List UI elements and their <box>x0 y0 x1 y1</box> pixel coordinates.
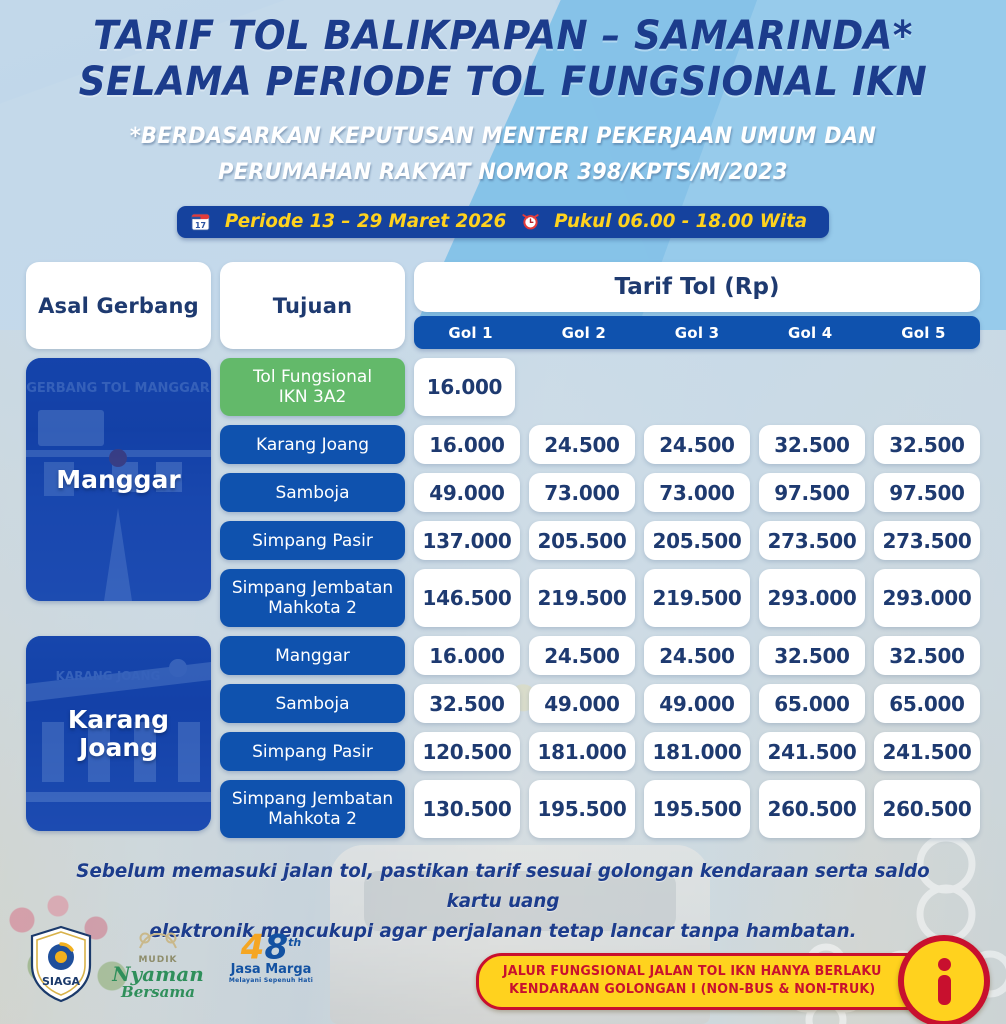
tariff-table-header: Asal Gerbang Tujuan Tarif Tol (Rp) Gol 1… <box>26 262 980 349</box>
table-row: Karang Joang 16.000 24.500 24.500 32.500… <box>220 425 980 464</box>
tariff-cell-gol2: 205.500 <box>529 521 635 560</box>
info-notice-pill: JALUR FUNGSIONAL JALAN TOL IKN HANYA BER… <box>476 953 944 1010</box>
tariff-cell-gol3: 181.000 <box>644 732 750 771</box>
tariff-cell-gol2: 49.000 <box>529 684 635 723</box>
destination-line1: Simpang Jembatan <box>232 578 393 598</box>
tariff-table-body: GERBANG TOL MANGGAR Manggar Tol Fungsion… <box>26 358 980 847</box>
jasa-marga-logo: 4488th Jasa Marga Melayani Sepenuh Hati <box>222 927 320 1001</box>
tariff-cell-gol2: 73.000 <box>529 473 635 512</box>
destination-cell: Tol Fungsional IKN 3A2 <box>220 358 405 416</box>
gol-header-5: Gol 5 <box>867 324 980 342</box>
page-title-line1: TARIF TOL BALIKPAPAN – SAMARINDA* <box>35 14 971 58</box>
tariff-cell-gol2: 24.500 <box>529 425 635 464</box>
jasa-marga-anniversary: 4488th <box>222 927 320 963</box>
siaga-logo: SIAGA <box>28 925 94 1003</box>
tariff-cell-gol1: 32.500 <box>414 684 520 723</box>
tariff-cell-gol5: 32.500 <box>874 425 980 464</box>
period-badge: 17 Periode 13 – 29 Maret 2026 Pukul 06.0… <box>177 206 829 238</box>
tariff-group-manggar: GERBANG TOL MANGGAR Manggar Tol Fungsion… <box>26 358 980 627</box>
time-text: Pukul 06.00 - 18.00 Wita <box>555 212 808 231</box>
destination-cell: Manggar <box>220 636 405 675</box>
footer-logos: SIAGA MUDIK Nyaman Bersama 4488th Jasa M… <box>28 925 320 1003</box>
tariff-cell-empty <box>524 358 980 416</box>
period-text: Periode 13 – 29 Maret 2026 <box>225 212 506 231</box>
tariff-cell-gol5: 32.500 <box>874 636 980 675</box>
tariff-cell-gol3: 195.500 <box>644 780 750 838</box>
gol-header-row: Gol 1 Gol 2 Gol 3 Gol 4 Gol 5 <box>414 316 980 349</box>
column-header-origin: Asal Gerbang <box>26 262 211 349</box>
infographic-poster: TARIF TOL BALIKPAPAN – SAMARINDA* SELAMA… <box>0 0 1006 1024</box>
tariff-cell-gol2: 219.500 <box>529 569 635 627</box>
tariff-cell-gol1: 137.000 <box>414 521 520 560</box>
gol-header-1: Gol 1 <box>414 324 527 342</box>
tariff-cell-gol1: 130.500 <box>414 780 520 838</box>
info-icon-bar <box>938 975 951 1005</box>
tariff-cell-gol1: 146.500 <box>414 569 520 627</box>
destination-line2: Mahkota 2 <box>268 598 357 618</box>
tariff-group-karang-joang: KARANG JOANG Karang Joang Manggar 16.000… <box>26 636 980 838</box>
page-subtitle-line2: PERUMAHAN RAKYAT NOMOR 398/KPTS/M/2023 <box>25 156 981 190</box>
tariff-cell-gol1: 49.000 <box>414 473 520 512</box>
jm-sup: th <box>288 936 301 949</box>
tariff-cell-gol4: 32.500 <box>759 425 865 464</box>
gol-header-4: Gol 4 <box>754 324 867 342</box>
destination-line2: Mahkota 2 <box>268 809 357 829</box>
destination-cell: Samboja <box>220 473 405 512</box>
destination-cell: Karang Joang <box>220 425 405 464</box>
tariff-cell-gol3: 24.500 <box>644 636 750 675</box>
origin-gate-karang-joang: KARANG JOANG Karang Joang <box>26 636 211 831</box>
info-notice-line2: KENDARAAN GOLONGAN I (NON-BUS & NON-TRUK… <box>502 981 881 999</box>
calendar-icon: 17 <box>191 212 210 231</box>
table-row: Simpang Jembatan Mahkota 2 130.500 195.5… <box>220 780 980 838</box>
tariff-cell-gol4: 273.500 <box>759 521 865 560</box>
siaga-label: SIAGA <box>42 975 81 988</box>
tariff-cell-gol4: 293.000 <box>759 569 865 627</box>
tariff-cell-gol5: 97.500 <box>874 473 980 512</box>
tariff-cell-gol5: 260.500 <box>874 780 980 838</box>
info-icon <box>898 935 990 1024</box>
column-header-tariff: Tarif Tol (Rp) <box>414 262 980 312</box>
mudik-bottom-text: Bersama <box>112 984 204 1000</box>
destination-line1: Simpang Jembatan <box>232 789 393 809</box>
mudik-mid-text: Nyaman <box>112 965 204 984</box>
column-header-destination: Tujuan <box>220 262 405 349</box>
destination-line1: Tol Fungsional <box>253 367 372 387</box>
tariff-cell-gol3: 219.500 <box>644 569 750 627</box>
gol-header-3: Gol 3 <box>640 324 753 342</box>
origin-gate-manggar: GERBANG TOL MANGGAR Manggar <box>26 358 211 601</box>
tariff-cell-gol5: 273.500 <box>874 521 980 560</box>
info-notice-line1: JALUR FUNGSIONAL JALAN TOL IKN HANYA BER… <box>502 963 881 981</box>
poster-header: TARIF TOL BALIKPAPAN – SAMARINDA* SELAMA… <box>0 14 1006 238</box>
tariff-cell-gol1: 16.000 <box>414 636 520 675</box>
jasa-marga-tagline: Melayani Sepenuh Hati <box>222 977 320 984</box>
destination-cell: Simpang Jembatan Mahkota 2 <box>220 569 405 627</box>
jasa-marga-title: Jasa Marga <box>222 963 320 977</box>
tariff-cell-gol5: 65.000 <box>874 684 980 723</box>
info-icon-dot <box>938 958 951 971</box>
table-row: Tol Fungsional IKN 3A2 16.000 <box>220 358 980 416</box>
tariff-cell-gol4: 260.500 <box>759 780 865 838</box>
svg-text:17: 17 <box>195 221 206 230</box>
tariff-cell-gol3: 205.500 <box>644 521 750 560</box>
tariff-cell-gol4: 32.500 <box>759 636 865 675</box>
tariff-cell-gol1: 16.000 <box>414 358 515 416</box>
tariff-cell-gol5: 293.000 <box>874 569 980 627</box>
tariff-cell-gol3: 73.000 <box>644 473 750 512</box>
tariff-cell-gol2: 181.000 <box>529 732 635 771</box>
tariff-cell-gol3: 49.000 <box>644 684 750 723</box>
table-row: Simpang Pasir 120.500 181.000 181.000 24… <box>220 732 980 771</box>
info-notice: JALUR FUNGSIONAL JALAN TOL IKN HANYA BER… <box>476 935 990 1024</box>
table-row: Samboja 49.000 73.000 73.000 97.500 97.5… <box>220 473 980 512</box>
origin-label-manggar: Manggar <box>56 466 181 494</box>
page-title-line2: SELAMA PERIODE TOL FUNGSIONAL IKN <box>35 60 971 104</box>
destination-cell: Simpang Jembatan Mahkota 2 <box>220 780 405 838</box>
tariff-cell-gol1: 120.500 <box>414 732 520 771</box>
mudik-arch-icon <box>112 930 204 950</box>
destination-cell: Simpang Pasir <box>220 732 405 771</box>
page-subtitle-line1: *BERDASARKAN KEPUTUSAN MENTERI PEKERJAAN… <box>25 120 981 154</box>
destination-cell: Simpang Pasir <box>220 521 405 560</box>
table-row: Simpang Jembatan Mahkota 2 146.500 219.5… <box>220 569 980 627</box>
tariff-cell-gol3: 24.500 <box>644 425 750 464</box>
mudik-nyaman-bersama-logo: MUDIK Nyaman Bersama <box>112 930 204 998</box>
tariff-cell-gol4: 97.500 <box>759 473 865 512</box>
tariff-cell-gol4: 65.000 <box>759 684 865 723</box>
table-row: Simpang Pasir 137.000 205.500 205.500 27… <box>220 521 980 560</box>
origin-label-karang-joang: Karang Joang <box>26 706 211 762</box>
destination-line2: IKN 3A2 <box>279 387 347 407</box>
tariff-cell-gol4: 241.500 <box>759 732 865 771</box>
destination-cell: Samboja <box>220 684 405 723</box>
footer-note-line1: Sebelum memasuki jalan tol, pastikan tar… <box>59 856 948 916</box>
tariff-cell-gol5: 241.500 <box>874 732 980 771</box>
tariff-cell-gol2: 24.500 <box>529 636 635 675</box>
alarm-clock-icon <box>521 212 540 231</box>
tariff-cell-gol2: 195.500 <box>529 780 635 838</box>
tariff-cell-gol1: 16.000 <box>414 425 520 464</box>
table-row: Manggar 16.000 24.500 24.500 32.500 32.5… <box>220 636 980 675</box>
table-row: Samboja 32.500 49.000 49.000 65.000 65.0… <box>220 684 980 723</box>
gol-header-2: Gol 2 <box>527 324 640 342</box>
